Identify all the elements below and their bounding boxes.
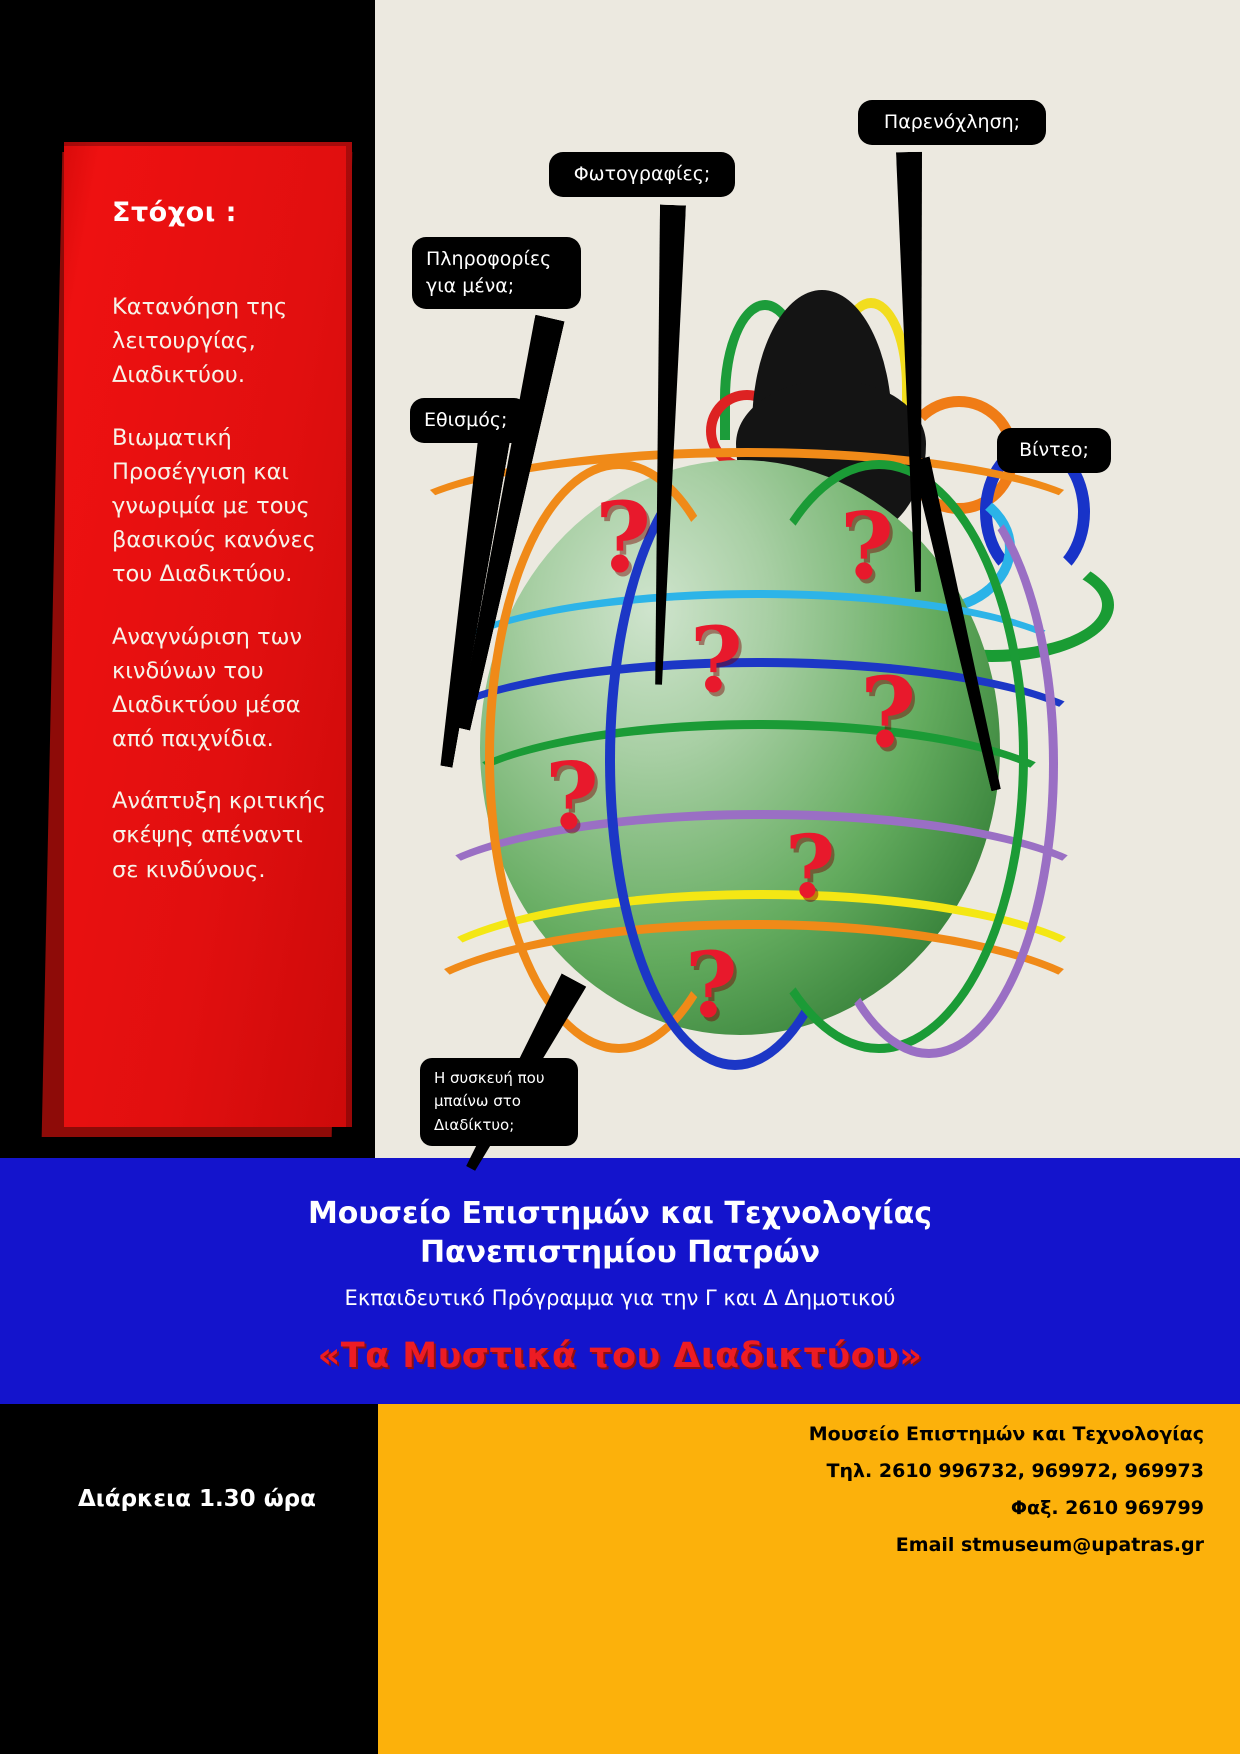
bubble-fotografies[interactable]: Φωτογραφίες; bbox=[549, 152, 735, 197]
question-mark: ? bbox=[685, 940, 738, 1030]
organization-title: Μουσείο Επιστημών και Τεχνολογίας Πανεπι… bbox=[0, 1158, 1240, 1272]
objective-item: Αναγνώριση των κινδύνων του Διαδικτύου μ… bbox=[112, 620, 326, 757]
bubble-parenochlisi[interactable]: Παρενόχληση; bbox=[858, 100, 1046, 145]
program-subtitle: Εκπαιδευτικό Πρόγραμμα για την Γ και Δ Δ… bbox=[0, 1286, 1240, 1310]
contact-box: Μουσείο Επιστημών και Τεχνολογίας Τηλ. 2… bbox=[378, 1404, 1240, 1754]
meridian-purple bbox=[800, 470, 1058, 1058]
program-title: «Τα Μυστικά του Διαδικτύου» bbox=[0, 1336, 1240, 1376]
question-mark: ? bbox=[595, 490, 651, 586]
bubble-syskevi[interactable]: Η συσκευή που μπαίνω στο Διαδίκτυο; bbox=[420, 1058, 578, 1146]
bubble-ethismos[interactable]: Εθισμός; bbox=[410, 398, 528, 443]
contact-line: Φαξ. 2610 969799 bbox=[809, 1490, 1204, 1527]
contact-line: Τηλ. 2610 996732, 969972, 969973 bbox=[809, 1453, 1204, 1490]
objectives-title: Στόχοι : bbox=[112, 197, 326, 228]
organization-line-2: Πανεπιστημίου Πατρών bbox=[420, 1235, 820, 1270]
question-mark: ? bbox=[785, 825, 835, 911]
illustration-stage: ? ? ? ? ? ? ? Παρενόχληση; Φωτογραφίες; … bbox=[0, 0, 1240, 1158]
contact-line: Μουσείο Επιστημών και Τεχνολογίας bbox=[809, 1416, 1204, 1453]
footer-blue-band: Μουσείο Επιστημών και Τεχνολογίας Πανεπι… bbox=[0, 1158, 1240, 1404]
bubble-vinteo[interactable]: Βίντεο; bbox=[997, 428, 1111, 473]
organization-line-1: Μουσείο Επιστημών και Τεχνολογίας bbox=[308, 1196, 932, 1231]
question-mark: ? bbox=[860, 665, 916, 761]
duration-label: Διάρκεια 1.30 ώρα bbox=[78, 1486, 316, 1512]
contact-details: Μουσείο Επιστημών και Τεχνολογίας Τηλ. 2… bbox=[809, 1416, 1204, 1564]
objectives-panel: Στόχοι : Κατανόηση της λειτουργίας, Διαδ… bbox=[64, 142, 352, 1127]
objective-item: Ανάπτυξη κριτικής σκέψης απέναντι σε κιν… bbox=[112, 784, 326, 887]
bottom-bar: Διάρκεια 1.30 ώρα Μουσείο Επιστημών και … bbox=[0, 1404, 1240, 1754]
poster-root: ? ? ? ? ? ? ? Παρενόχληση; Φωτογραφίες; … bbox=[0, 0, 1240, 1754]
objective-item: Βιωματική Προσέγγιση και γνωριμία με του… bbox=[112, 421, 326, 592]
question-mark: ? bbox=[690, 615, 743, 705]
question-mark: ? bbox=[840, 500, 894, 592]
bubble-plirofories[interactable]: Πληροφορίες για μένα; bbox=[412, 237, 581, 309]
question-mark: ? bbox=[545, 750, 599, 842]
objective-item: Κατανόηση της λειτουργίας, Διαδικτύου. bbox=[112, 290, 326, 393]
contact-line: Email stmuseum@upatras.gr bbox=[809, 1527, 1204, 1564]
